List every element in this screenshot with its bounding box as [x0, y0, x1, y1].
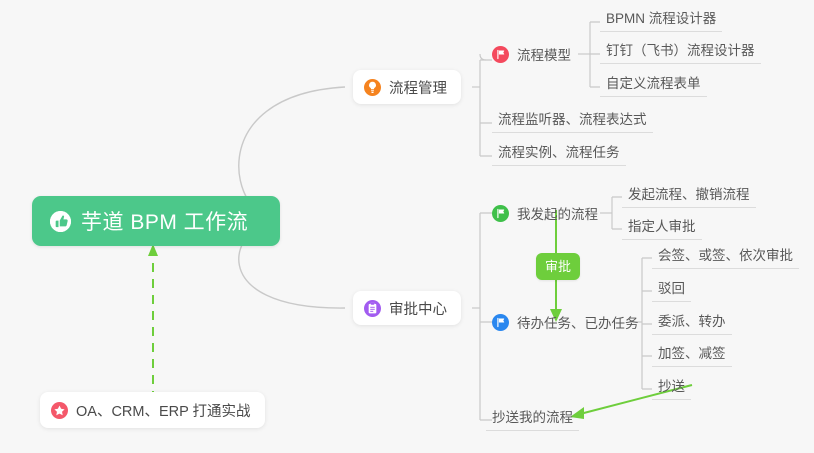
leaf-node[interactable]: 抄送我的流程 [486, 409, 579, 431]
leaf-node[interactable]: 委派、转办 [652, 313, 732, 335]
leaf-node[interactable]: 钉钉（飞书）流程设计器 [600, 42, 761, 64]
leaf-node[interactable]: 抄送 [652, 378, 691, 400]
subnode-my-initiated[interactable]: 我发起的流程 [492, 203, 598, 223]
bottom-highlight-card[interactable]: OA、CRM、ERP 打通实战 [40, 392, 265, 428]
branch-label-process-management: 流程管理 [389, 77, 447, 98]
root-node[interactable]: 芋道 BPM 工作流 [32, 196, 280, 246]
subnode-label-todo-done-tasks: 待办任务、已办任务 [517, 312, 639, 332]
bottom-highlight-label: OA、CRM、ERP 打通实战 [76, 400, 251, 421]
thumbs-up-icon [50, 211, 71, 232]
subnode-process-model[interactable]: 流程模型 [492, 44, 571, 64]
flag-icon [492, 205, 509, 222]
connector-pm-corner-top [480, 54, 486, 60]
flag-icon [492, 314, 509, 331]
subnode-todo-done-tasks[interactable]: 待办任务、已办任务 [492, 312, 639, 332]
connector-pm-branches [480, 60, 492, 156]
connector-ac-branches [480, 213, 492, 420]
lightbulb-icon [364, 79, 381, 96]
star-icon [51, 402, 68, 419]
connector-todo-branches [642, 258, 652, 389]
leaf-node[interactable]: 指定人审批 [622, 218, 702, 240]
connector-model-branches [590, 22, 600, 87]
subnode-label-my-initiated: 我发起的流程 [517, 203, 598, 223]
leaf-node[interactable]: 流程实例、流程任务 [492, 144, 626, 166]
leaf-node[interactable]: 自定义流程表单 [600, 75, 707, 97]
branch-label-approval-center: 审批中心 [389, 298, 447, 319]
leaf-node[interactable]: 发起流程、撤销流程 [622, 186, 756, 208]
leaf-node[interactable]: 流程监听器、流程表达式 [492, 111, 653, 133]
subnode-label-process-model: 流程模型 [517, 44, 571, 64]
leaf-node[interactable]: BPMN 流程设计器 [600, 10, 722, 32]
leaf-node[interactable]: 会签、或签、依次审批 [652, 247, 799, 269]
root-label: 芋道 BPM 工作流 [81, 206, 248, 236]
leaf-node[interactable]: 驳回 [652, 280, 691, 302]
branch-node-process-management[interactable]: 流程管理 [353, 70, 461, 104]
mindmap-canvas: 芋道 BPM 工作流 流程管理 流程模型 BPMN 流程设计器 钉钉（飞书）流程… [0, 0, 814, 453]
leaf-node[interactable]: 加签、减签 [652, 345, 732, 367]
clipboard-icon [364, 300, 381, 317]
branch-node-approval-center[interactable]: 审批中心 [353, 291, 461, 325]
flag-icon [492, 46, 509, 63]
connector-mine-branches [612, 197, 622, 229]
approval-flow-badge: 审批 [536, 253, 580, 280]
